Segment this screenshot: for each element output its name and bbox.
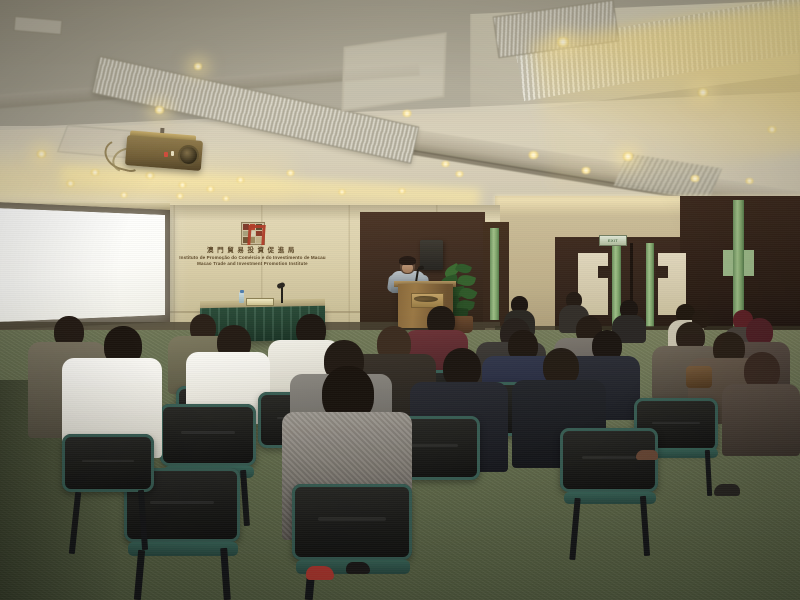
- jade-door-handle[interactable]: [646, 243, 654, 327]
- recessed-downlight: [556, 37, 570, 47]
- handbag: [686, 366, 712, 388]
- signage-chinese: 澳門貿易投資促進局: [155, 248, 350, 255]
- stacking-chair[interactable]: [62, 434, 154, 492]
- projector-indicator-icon: [164, 152, 168, 157]
- exit-sign-label: EXIT: [608, 239, 618, 243]
- recessed-downlight: [36, 150, 47, 158]
- recessed-downlight: [441, 161, 450, 167]
- recessed-downlight: [402, 110, 412, 117]
- recessed-downlight: [286, 170, 295, 176]
- recessed-downlight: [90, 169, 100, 176]
- speaker-hair: [399, 256, 416, 265]
- stacking-chair[interactable]: [160, 404, 256, 466]
- recessed-downlight: [455, 171, 464, 177]
- signage-portuguese: Instituto de Promoção do Comércio e do I…: [155, 256, 350, 261]
- seminar-room-photo: EXIT 澳門貿易投資促進局 Instituto de Promoção do …: [0, 0, 800, 600]
- chair-slot: [181, 431, 235, 434]
- ipim-signage: 澳門貿易投資促進局 Instituto de Promoção do Comér…: [155, 222, 350, 262]
- exit-sign: EXIT: [599, 235, 627, 246]
- stacking-chair[interactable]: [560, 428, 658, 492]
- podium-crest-icon: [414, 296, 438, 302]
- chair-slot: [318, 517, 385, 521]
- door-panel-notch: [656, 266, 668, 278]
- recessed-downlight: [622, 152, 634, 161]
- recessed-downlight: [236, 177, 245, 183]
- ipim-logo-icon: [241, 222, 265, 245]
- chair-frame: [160, 404, 256, 466]
- recessed-downlight: [66, 180, 75, 187]
- bottle-cap: [240, 290, 244, 293]
- recessed-downlight: [338, 189, 346, 195]
- recessed-downlight: [398, 188, 406, 194]
- recessed-downlight: [120, 192, 128, 198]
- signage-english: Macao Trade and Investment Promotion Ins…: [155, 262, 350, 266]
- recessed-downlight: [222, 196, 230, 201]
- recessed-downlight: [145, 172, 155, 179]
- recessed-downlight: [193, 63, 203, 70]
- attendee: [722, 384, 800, 456]
- projection-screen: [0, 208, 165, 323]
- chair-frame: [62, 434, 154, 492]
- recessed-downlight: [745, 178, 754, 184]
- name-placard: [246, 298, 274, 306]
- door-panel-notch: [598, 266, 610, 278]
- recessed-downlight: [581, 167, 591, 174]
- shoe: [636, 450, 658, 460]
- recessed-downlight: [176, 193, 184, 199]
- recessed-downlight: [206, 186, 215, 192]
- table-microphone-stand: [281, 286, 283, 303]
- recessed-downlight: [767, 126, 777, 133]
- recessed-downlight: [697, 88, 709, 97]
- stacking-chair[interactable]: [292, 484, 412, 560]
- water-bottle: [239, 292, 244, 303]
- recessed-downlight: [178, 182, 187, 188]
- chair-frame: [292, 484, 412, 560]
- chair-slot: [82, 460, 134, 463]
- chair-slot: [150, 501, 215, 505]
- chair-slot: [582, 456, 637, 459]
- jade-wall-accent: [490, 228, 499, 320]
- chair-frame: [560, 428, 658, 492]
- projector-indicator-icon: [171, 151, 174, 156]
- shoe: [306, 566, 334, 580]
- recessed-downlight: [690, 175, 700, 182]
- recessed-downlight: [528, 151, 539, 159]
- recessed-downlight: [154, 106, 165, 114]
- shoe: [714, 484, 740, 496]
- shoe: [346, 562, 370, 574]
